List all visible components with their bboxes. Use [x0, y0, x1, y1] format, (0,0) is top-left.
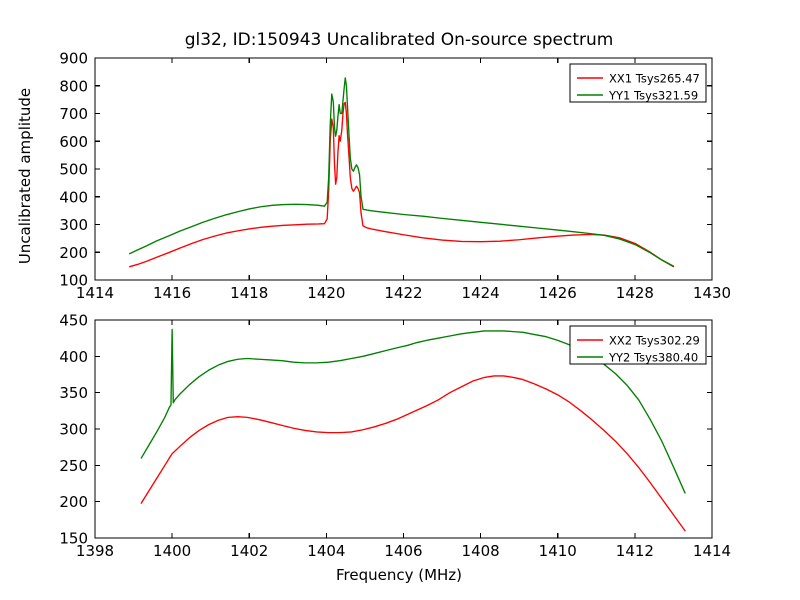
top-panel-y-tick-label: 400: [59, 188, 88, 206]
bottom-panel-y-tick-label: 200: [59, 493, 88, 511]
top-panel-x-tick-label: 1428: [616, 284, 654, 302]
top-panel-y-tick-label: 900: [59, 50, 88, 68]
bottom-panel-legend-label-xx: XX2 Tsys302.29: [609, 334, 700, 348]
y-axis-label: Uncalibrated amplitude: [16, 88, 34, 264]
top-panel-y-tick-label: 100: [59, 272, 88, 290]
top-panel-x-tick-label: 1424: [462, 284, 500, 302]
top-panel-legend-label-yy: YY1 Tsys321.59: [608, 89, 698, 103]
bottom-panel-y-tick-label: 300: [59, 421, 88, 439]
bottom-panel-y-tick-label: 400: [59, 348, 88, 366]
bottom-panel-y-tick-label: 150: [59, 530, 88, 548]
bottom-panel-x-tick-label: 1406: [384, 542, 422, 560]
top-panel-group: 1414141614181420142214241426142814301002…: [59, 50, 731, 303]
bottom-panel-group: 1398140014021404140614081410141214141502…: [59, 312, 731, 561]
spectrum-figure: gl32, ID:150943 Uncalibrated On-source s…: [0, 0, 800, 600]
top-panel-y-tick-label: 700: [59, 105, 88, 123]
top-panel-x-tick-label: 1426: [539, 284, 577, 302]
bottom-panel-y-tick-label: 450: [59, 312, 88, 330]
top-panel-legend-label-xx: XX1 Tsys265.47: [609, 72, 700, 86]
bottom-panel-legend-label-yy: YY2 Tsys380.40: [608, 351, 698, 365]
bottom-panel-x-tick-label: 1414: [693, 542, 731, 560]
top-panel-legend[interactable]: XX1 Tsys265.47YY1 Tsys321.59: [570, 64, 706, 103]
top-panel-y-tick-label: 500: [59, 161, 88, 179]
top-panel-y-tick-label: 800: [59, 77, 88, 95]
top-panel-x-tick-label: 1416: [153, 284, 191, 302]
top-panel-x-tick-label: 1430: [693, 284, 731, 302]
page-title: gl32, ID:150943 Uncalibrated On-source s…: [185, 30, 614, 50]
top-panel-x-tick-label: 1418: [230, 284, 268, 302]
top-panel-y-tick-label: 300: [59, 216, 88, 234]
x-axis-label: Frequency (MHz): [336, 566, 462, 584]
bottom-panel-x-tick-label: 1402: [230, 542, 268, 560]
top-panel-x-tick-label: 1422: [384, 284, 422, 302]
bottom-panel-y-tick-label: 350: [59, 384, 88, 402]
bottom-panel-y-tick-label: 250: [59, 457, 88, 475]
bottom-panel-x-tick-label: 1404: [307, 542, 345, 560]
bottom-panel-x-tick-label: 1412: [616, 542, 654, 560]
bottom-panel-legend[interactable]: XX2 Tsys302.29YY2 Tsys380.40: [570, 326, 706, 365]
bottom-panel-x-tick-label: 1400: [153, 542, 191, 560]
top-panel-y-tick-label: 600: [59, 133, 88, 151]
top-panel-y-tick-label: 200: [59, 244, 88, 262]
top-panel-x-tick-label: 1420: [307, 284, 345, 302]
bottom-panel-x-tick-label: 1408: [462, 542, 500, 560]
spectrum-plot-canvas: gl32, ID:150943 Uncalibrated On-source s…: [0, 0, 800, 600]
bottom-panel-x-tick-label: 1410: [539, 542, 577, 560]
